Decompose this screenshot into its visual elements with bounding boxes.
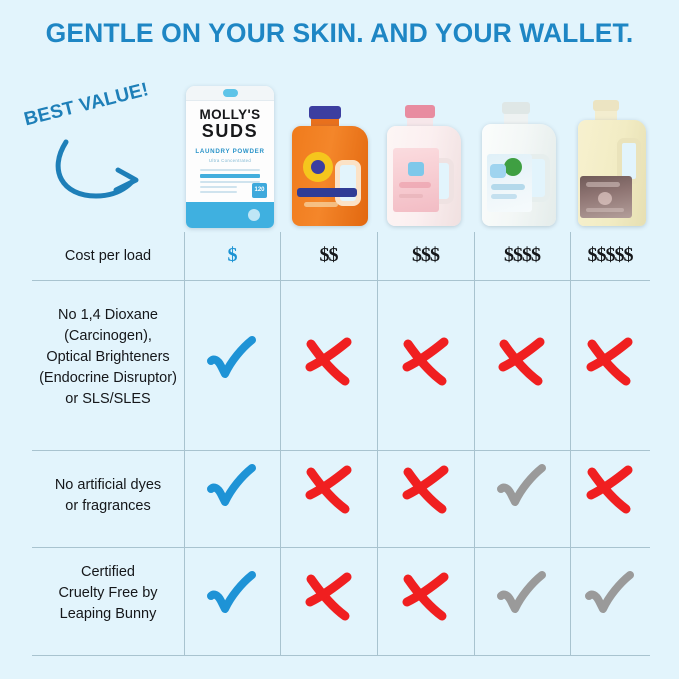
row-label-line: (Endocrine Disruptor) — [32, 368, 184, 389]
bottle-label-icon — [598, 192, 612, 205]
check-blue-icon — [204, 334, 260, 388]
bottle-label-text-line — [586, 208, 624, 212]
row-label-line: or fragrances — [32, 496, 184, 517]
pouch-label-line — [200, 186, 237, 188]
best-value-label: BEST VALUE! — [22, 79, 151, 131]
pouch-label-line — [200, 181, 260, 183]
check-blue-icon — [204, 569, 260, 623]
bottle-label — [393, 148, 439, 212]
bottle-label-text-line — [399, 194, 423, 198]
row-label-line: Optical Brighteners — [32, 347, 184, 368]
cell-cruelty-free-mollys-suds — [184, 569, 280, 628]
bottle-label-text-line — [491, 194, 517, 199]
bottle-label-text-line — [304, 202, 338, 207]
pouch-label-bar — [200, 174, 260, 178]
bottle-label-accent — [490, 164, 506, 178]
cell-cruelty-free-product-4 — [474, 569, 570, 628]
cross-red-icon — [399, 464, 453, 516]
cell-cruelty-free-product-5 — [570, 569, 650, 628]
product-orange-detergent-bottle — [292, 106, 374, 226]
cell-dyes-product-5 — [570, 464, 650, 521]
cross-red-icon — [399, 336, 453, 388]
cross-red-icon — [495, 336, 549, 388]
bottle-cap — [502, 102, 530, 114]
product-pink-white-detergent-bottle — [387, 104, 469, 226]
cell-cost-product-3: $$$ — [377, 244, 474, 267]
cell-dyes-product-4 — [474, 462, 570, 521]
cell-dyes-product-2 — [280, 464, 377, 521]
cross-red-icon — [302, 336, 356, 388]
bottle-cap — [309, 106, 341, 119]
cross-red-icon — [583, 336, 637, 388]
cross-red-icon — [302, 464, 356, 516]
product-cream-jug-detergent-bottle — [578, 100, 658, 226]
comparison-infographic: GENTLE ON YOUR SKIN. AND YOUR WALLET. BE… — [0, 0, 679, 679]
product-white-green-detergent-bottle — [482, 102, 564, 226]
pouch-bottom-band — [186, 202, 274, 228]
cell-dioxane-product-3 — [377, 336, 474, 393]
pouch-subtitle: LAUNDRY POWDER — [186, 148, 274, 155]
check-gray-icon — [494, 569, 550, 623]
cell-cruelty-free-product-3 — [377, 571, 474, 628]
row-label-line: (Carcinogen), — [32, 326, 184, 347]
cell-dioxane-product-2 — [280, 336, 377, 393]
cell-dyes-mollys-suds — [184, 462, 280, 521]
cross-red-icon — [399, 571, 453, 623]
cell-dyes-product-3 — [377, 464, 474, 521]
row-label-cost-per-load: Cost per load — [32, 246, 184, 267]
check-gray-icon — [582, 569, 638, 623]
check-gray-icon — [494, 462, 550, 516]
check-blue-icon — [204, 462, 260, 516]
row-label-line: No 1,4 Dioxane — [32, 305, 184, 326]
product-mollys-suds-laundry-powder: MOLLY'S SUDS LAUNDRY POWDER Ultra Concen… — [186, 86, 274, 228]
table-hline — [32, 547, 650, 548]
bottle-body — [387, 126, 461, 226]
pouch-logo-dot-icon — [223, 89, 238, 97]
cell-cost-product-2: $$ — [280, 244, 377, 267]
bottle-label-band — [297, 188, 357, 197]
cell-cost-product-4: $$$$ — [474, 244, 570, 267]
bottle-label-text-line — [399, 182, 431, 188]
cell-cost-product-5: $$$$$ — [570, 244, 650, 267]
row-label-line: No artificial dyes — [32, 475, 184, 496]
row-label-line: Cruelty Free by — [32, 583, 184, 604]
cell-dioxane-product-4 — [474, 336, 570, 393]
pouch-brand-line1: MOLLY'S — [186, 108, 274, 122]
bottle-label-text-line — [491, 184, 525, 190]
bottle-body — [578, 120, 646, 226]
table-hline — [32, 450, 650, 451]
pouch-brand-line2: SUDS — [186, 122, 274, 141]
row-label-line: Certified — [32, 562, 184, 583]
row-label-line: Leaping Bunny — [32, 604, 184, 625]
bottle-label-inner-icon — [311, 160, 325, 174]
cell-dioxane-product-5 — [570, 336, 650, 393]
bottle-body — [292, 126, 368, 226]
cross-red-icon — [302, 571, 356, 623]
cross-red-icon — [583, 464, 637, 516]
cell-cruelty-free-product-2 — [280, 571, 377, 628]
pouch-subtitle-secondary: Ultra Concentrated — [186, 158, 274, 163]
row-label-cruelty-free: Certified Cruelty Free by Leaping Bunny — [32, 562, 184, 625]
pouch-brand-name: MOLLY'S SUDS — [186, 108, 274, 141]
pouch-label-line — [200, 169, 260, 171]
row-label-no-dioxane: No 1,4 Dioxane (Carcinogen), Optical Bri… — [32, 305, 184, 410]
cell-dioxane-mollys-suds — [184, 334, 280, 393]
pouch-label-line — [200, 191, 237, 193]
row-label-line: Cost per load — [32, 246, 184, 267]
row-label-line: or SLS/SLES — [32, 389, 184, 410]
pouch-label-copy — [200, 169, 260, 196]
pouch-load-count-badge: 120 — [252, 183, 267, 198]
bottle-body — [482, 124, 556, 226]
bottle-label-icon — [504, 158, 522, 176]
table-hline — [32, 280, 650, 281]
table-hline — [32, 655, 650, 656]
bottle-label-icon — [408, 162, 424, 176]
best-value-callout: BEST VALUE! — [16, 96, 186, 216]
bottle-cap — [593, 100, 619, 111]
row-label-no-artificial-dyes: No artificial dyes or fragrances — [32, 475, 184, 517]
page-title: GENTLE ON YOUR SKIN. AND YOUR WALLET. — [0, 18, 679, 49]
bottle-handle — [335, 160, 361, 206]
bottle-label-text-line — [586, 182, 620, 187]
cell-cost-mollys-suds: $ — [184, 244, 280, 267]
comparison-table: Cost per load $ $$ $$$ $$$$ $$$$$ No 1,4… — [32, 232, 650, 656]
product-row: MOLLY'S SUDS LAUNDRY POWDER Ultra Concen… — [182, 78, 672, 228]
bottle-cap — [405, 105, 435, 118]
curved-arrow-right-icon — [52, 134, 162, 214]
